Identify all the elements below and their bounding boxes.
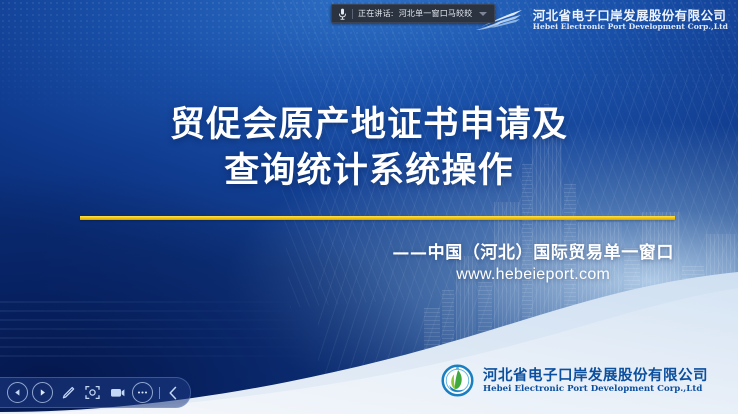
screen-button[interactable]	[107, 382, 128, 403]
monitor-icon	[109, 385, 126, 400]
microphone-icon	[338, 8, 347, 20]
expand-frame-icon	[84, 384, 101, 401]
player-toolbar[interactable]	[0, 377, 191, 408]
speaking-status-label: 正在讲话:	[358, 8, 394, 19]
play-left-icon	[13, 388, 22, 397]
speaking-divider	[352, 9, 353, 19]
title-line-2: 查询统计系统操作	[0, 149, 738, 195]
header-company-name-en: Hebei Electronic Port Development Corp.,…	[533, 23, 728, 32]
header-company-logo: 河北省电子口岸发展股份有限公司 Hebei Electronic Port De…	[474, 6, 728, 34]
triangle-down-icon[interactable]	[479, 12, 487, 16]
more-button[interactable]	[132, 382, 153, 403]
chevron-left-icon[interactable]	[166, 385, 180, 401]
presentation-slide: 河北省电子口岸发展股份有限公司 Hebei Electronic Port De…	[0, 0, 738, 414]
page-title: 贸促会原产地证书申请及 查询统计系统操作	[0, 103, 738, 194]
footer-company-name-en: Hebei Electronic Port Development Corp.,…	[483, 384, 708, 394]
subtitle-block: ——中国（河北）国际贸易单一窗口 www.hebeieport.com	[392, 238, 674, 284]
play-button[interactable]	[32, 382, 53, 403]
footer-company-logo: 河北省电子口岸发展股份有限公司 Hebei Electronic Port De…	[441, 364, 708, 397]
circular-leaf-emblem-icon	[441, 364, 474, 397]
ellipsis-icon	[137, 390, 148, 395]
subtitle-line-1: ——中国（河北）国际贸易单一窗口	[392, 238, 674, 263]
play-right-icon	[38, 388, 47, 397]
gold-divider-rule	[80, 216, 675, 220]
previous-button[interactable]	[7, 382, 28, 403]
footer-company-name-cn: 河北省电子口岸发展股份有限公司	[483, 367, 708, 384]
subtitle-website: www.hebeieport.com	[392, 266, 674, 284]
speaking-indicator[interactable]: 正在讲话: 河北单一窗口马皎皎	[331, 4, 495, 23]
pen-button[interactable]	[57, 382, 78, 403]
toolbar-divider	[159, 387, 160, 399]
pen-icon	[60, 385, 76, 401]
fullscreen-button[interactable]	[82, 382, 103, 403]
header-company-name-cn: 河北省电子口岸发展股份有限公司	[533, 9, 728, 23]
title-line-1: 贸促会原产地证书申请及	[170, 105, 568, 145]
speaker-name: 河北单一窗口马皎皎	[399, 8, 473, 19]
